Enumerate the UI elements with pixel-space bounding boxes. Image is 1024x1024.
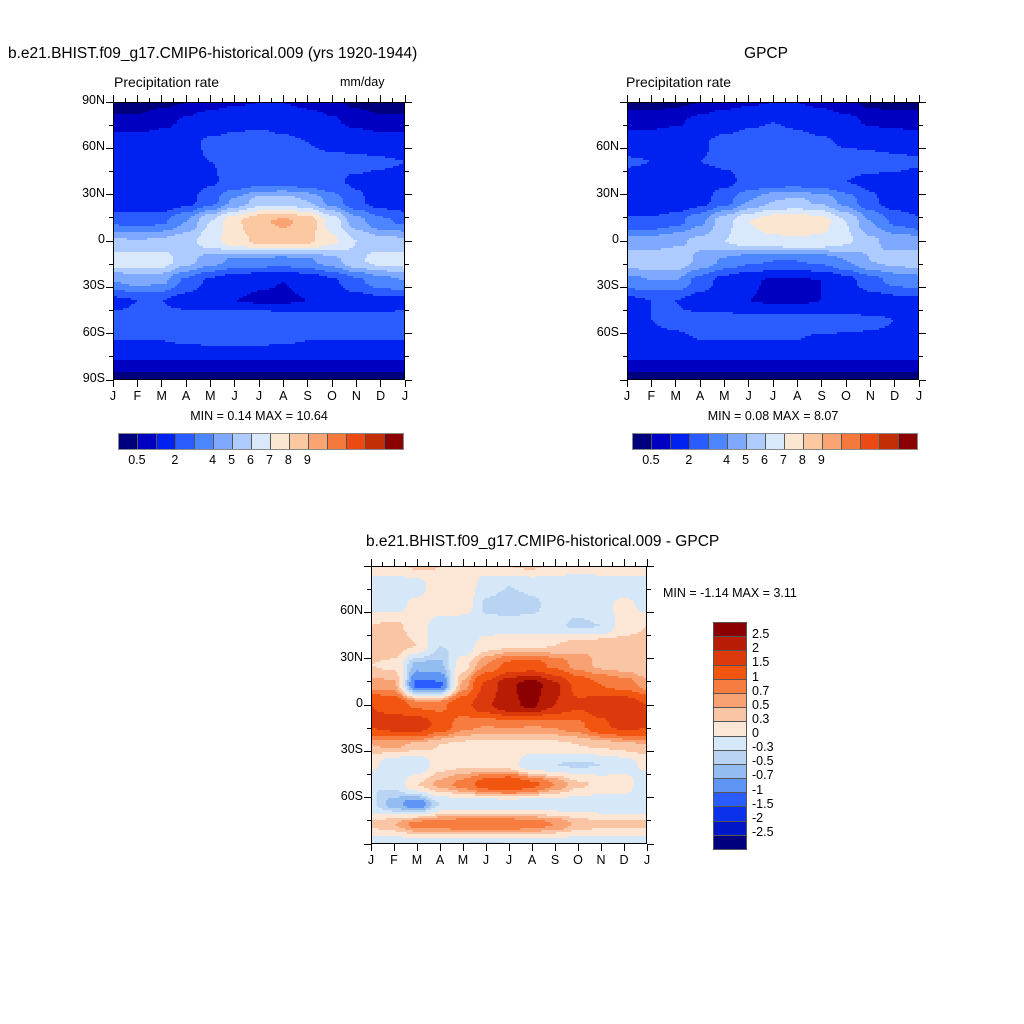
model-minmax-label: MIN = 0.14 MAX = 10.64 bbox=[113, 409, 405, 423]
model-plot-frame bbox=[113, 102, 405, 380]
month-tick-label: S bbox=[810, 389, 834, 403]
obs-colorbar[interactable] bbox=[632, 433, 918, 450]
colorbar-tick-label: 2.5 bbox=[752, 627, 792, 641]
lat-tick-label: 60S bbox=[575, 325, 619, 339]
month-tick-label: M bbox=[712, 389, 736, 403]
lat-tick-label: 0 bbox=[575, 232, 619, 246]
colorbar-segment bbox=[290, 434, 309, 449]
colorbar-segment bbox=[652, 434, 671, 449]
month-tick-label: A bbox=[688, 389, 712, 403]
colorbar-segment bbox=[880, 434, 899, 449]
diff-plot-frame bbox=[371, 566, 647, 844]
month-tick-label: D bbox=[883, 389, 907, 403]
lat-tick-label: 30S bbox=[61, 278, 105, 292]
month-tick-label: A bbox=[785, 389, 809, 403]
month-tick-label: N bbox=[344, 389, 368, 403]
month-tick-label: N bbox=[589, 853, 613, 867]
colorbar-tick-label: 9 bbox=[287, 453, 327, 467]
lat-tick-label: 60S bbox=[319, 789, 363, 803]
colorbar-segment bbox=[119, 434, 138, 449]
colorbar-tick-label: 9 bbox=[801, 453, 841, 467]
lat-tick-label: 60N bbox=[575, 139, 619, 153]
colorbar-segment bbox=[366, 434, 385, 449]
colorbar-segment bbox=[842, 434, 861, 449]
model-variable-label: Precipitation rate bbox=[114, 74, 219, 90]
colorbar-tick-label: 0.5 bbox=[631, 453, 671, 467]
lat-tick-label: 60N bbox=[319, 603, 363, 617]
lat-tick-label: 0 bbox=[319, 696, 363, 710]
lat-tick-label: 30N bbox=[319, 650, 363, 664]
colorbar-tick-label: -0.3 bbox=[752, 740, 792, 754]
colorbar-segment bbox=[899, 434, 917, 449]
month-tick-label: J bbox=[474, 853, 498, 867]
colorbar-segment bbox=[347, 434, 366, 449]
lat-tick-label: 90S bbox=[61, 371, 105, 385]
colorbar-segment bbox=[690, 434, 709, 449]
month-tick-label: A bbox=[174, 389, 198, 403]
colorbar-segment bbox=[195, 434, 214, 449]
colorbar-segment bbox=[714, 807, 746, 821]
colorbar-segment bbox=[157, 434, 176, 449]
colorbar-tick-label: 2 bbox=[752, 641, 792, 655]
colorbar-segment bbox=[714, 722, 746, 736]
month-tick-label: O bbox=[834, 389, 858, 403]
colorbar-segment bbox=[714, 822, 746, 836]
month-tick-label: J bbox=[247, 389, 271, 403]
colorbar-segment bbox=[214, 434, 233, 449]
month-tick-label: M bbox=[405, 853, 429, 867]
colorbar-segment bbox=[328, 434, 347, 449]
month-tick-label: M bbox=[451, 853, 475, 867]
colorbar-tick-label: 0.3 bbox=[752, 712, 792, 726]
month-tick-label: A bbox=[271, 389, 295, 403]
colorbar-tick-label: -1 bbox=[752, 783, 792, 797]
colorbar-tick-label: -0.7 bbox=[752, 768, 792, 782]
lat-tick-label: 30N bbox=[61, 186, 105, 200]
lat-tick-label: 30N bbox=[575, 186, 619, 200]
month-tick-label: J bbox=[393, 389, 417, 403]
colorbar-segment bbox=[633, 434, 652, 449]
month-tick-label: J bbox=[761, 389, 785, 403]
colorbar-tick-label: -2 bbox=[752, 811, 792, 825]
month-tick-label: F bbox=[639, 389, 663, 403]
lat-tick-label: 30S bbox=[575, 278, 619, 292]
colorbar-segment bbox=[823, 434, 842, 449]
diff-colorbar[interactable] bbox=[713, 622, 747, 850]
colorbar-segment bbox=[385, 434, 403, 449]
lat-tick-label: 60N bbox=[61, 139, 105, 153]
colorbar-tick-label: -2.5 bbox=[752, 825, 792, 839]
month-tick-label: F bbox=[382, 853, 406, 867]
colorbar-tick-label: 2 bbox=[155, 453, 195, 467]
obs-variable-label: Precipitation rate bbox=[626, 74, 731, 90]
month-tick-label: M bbox=[150, 389, 174, 403]
month-tick-label: S bbox=[543, 853, 567, 867]
colorbar-tick-label: 0.5 bbox=[752, 698, 792, 712]
colorbar-segment bbox=[714, 666, 746, 680]
colorbar-segment bbox=[747, 434, 766, 449]
month-tick-label: N bbox=[858, 389, 882, 403]
month-tick-label: J bbox=[101, 389, 125, 403]
colorbar-tick-label: 2 bbox=[669, 453, 709, 467]
colorbar-tick-label: -1.5 bbox=[752, 797, 792, 811]
colorbar-segment bbox=[714, 694, 746, 708]
month-tick-label: D bbox=[369, 389, 393, 403]
month-tick-label: S bbox=[296, 389, 320, 403]
month-tick-label: J bbox=[907, 389, 931, 403]
diff-panel-title: b.e21.BHIST.f09_g17.CMIP6-historical.009… bbox=[366, 533, 666, 551]
obs-minmax-label: MIN = 0.08 MAX = 8.07 bbox=[627, 409, 919, 423]
month-tick-label: J bbox=[497, 853, 521, 867]
colorbar-segment bbox=[714, 779, 746, 793]
obs-plot-frame bbox=[627, 102, 919, 380]
lat-tick-label: 90N bbox=[61, 93, 105, 107]
month-tick-label: O bbox=[566, 853, 590, 867]
colorbar-segment bbox=[714, 708, 746, 722]
month-tick-label: J bbox=[737, 389, 761, 403]
colorbar-segment bbox=[714, 765, 746, 779]
model-panel-title: b.e21.BHIST.f09_g17.CMIP6-historical.009… bbox=[8, 45, 417, 63]
lat-tick-label: 30S bbox=[319, 742, 363, 756]
colorbar-segment bbox=[714, 680, 746, 694]
model-colorbar[interactable] bbox=[118, 433, 404, 450]
month-tick-label: A bbox=[520, 853, 544, 867]
colorbar-segment bbox=[671, 434, 690, 449]
colorbar-tick-label: 0.7 bbox=[752, 684, 792, 698]
diff-minmax-label: MIN = -1.14 MAX = 3.11 bbox=[663, 586, 797, 600]
colorbar-tick-label: 1.5 bbox=[752, 655, 792, 669]
month-tick-label: J bbox=[615, 389, 639, 403]
month-tick-label: J bbox=[635, 853, 659, 867]
obs-panel-title: GPCP bbox=[620, 45, 912, 63]
month-tick-label: A bbox=[428, 853, 452, 867]
colorbar-segment bbox=[714, 637, 746, 651]
month-tick-label: M bbox=[664, 389, 688, 403]
colorbar-segment bbox=[766, 434, 785, 449]
colorbar-segment bbox=[714, 751, 746, 765]
lat-tick-label: 60S bbox=[61, 325, 105, 339]
colorbar-segment bbox=[714, 836, 746, 849]
colorbar-segment bbox=[714, 737, 746, 751]
colorbar-segment bbox=[714, 651, 746, 665]
colorbar-tick-label: 0 bbox=[752, 726, 792, 740]
month-tick-label: F bbox=[125, 389, 149, 403]
month-tick-label: O bbox=[320, 389, 344, 403]
colorbar-segment bbox=[138, 434, 157, 449]
lat-tick-label: 0 bbox=[61, 232, 105, 246]
colorbar-segment bbox=[271, 434, 290, 449]
month-tick-label: J bbox=[223, 389, 247, 403]
colorbar-segment bbox=[728, 434, 747, 449]
colorbar-tick-label: 1 bbox=[752, 670, 792, 684]
colorbar-segment bbox=[709, 434, 728, 449]
model-units-label: mm/day bbox=[340, 75, 384, 89]
colorbar-tick-label: -0.5 bbox=[752, 754, 792, 768]
colorbar-segment bbox=[309, 434, 328, 449]
colorbar-segment bbox=[861, 434, 880, 449]
colorbar-segment bbox=[785, 434, 804, 449]
month-tick-label: M bbox=[198, 389, 222, 403]
colorbar-segment bbox=[714, 623, 746, 637]
month-tick-label: J bbox=[359, 853, 383, 867]
colorbar-segment bbox=[233, 434, 252, 449]
colorbar-segment bbox=[804, 434, 823, 449]
colorbar-segment bbox=[714, 793, 746, 807]
colorbar-segment bbox=[176, 434, 195, 449]
colorbar-segment bbox=[252, 434, 271, 449]
month-tick-label: D bbox=[612, 853, 636, 867]
colorbar-tick-label: 0.5 bbox=[117, 453, 157, 467]
